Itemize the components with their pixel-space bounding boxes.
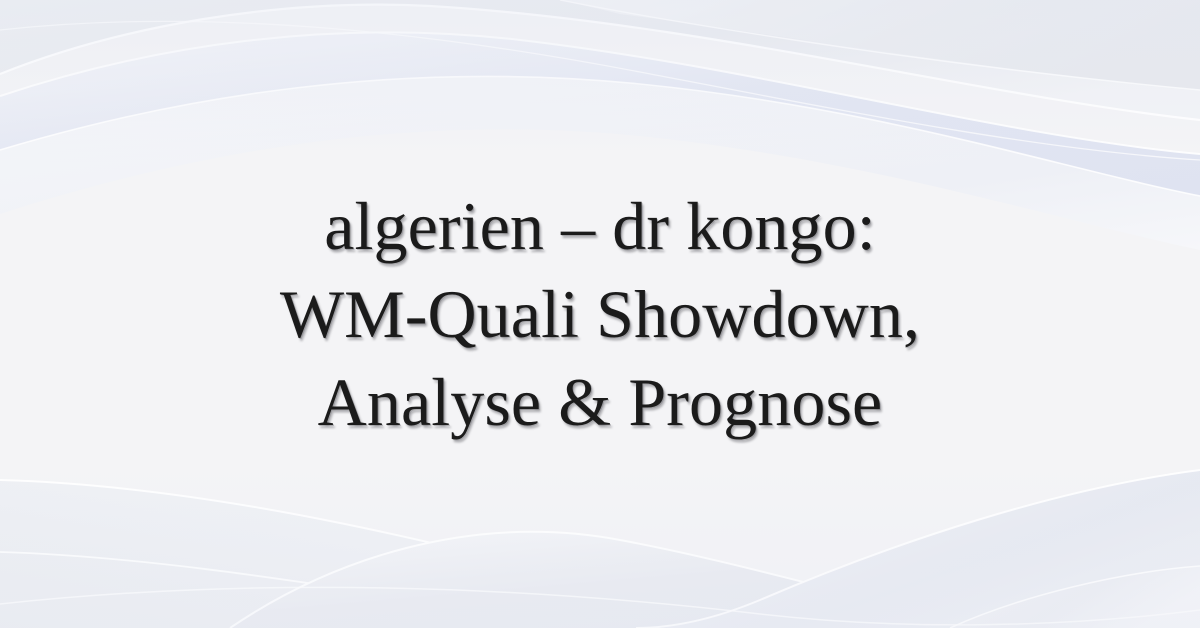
headline-line-1: algerien – dr kongo: (90, 182, 1110, 270)
social-share-card: algerien – dr kongo: WM-Quali Showdown, … (0, 0, 1200, 628)
headline-line-3: Analyse & Prognose (90, 358, 1110, 446)
headline-line-2: WM-Quali Showdown, (90, 270, 1110, 358)
headline-block: algerien – dr kongo: WM-Quali Showdown, … (0, 0, 1200, 628)
